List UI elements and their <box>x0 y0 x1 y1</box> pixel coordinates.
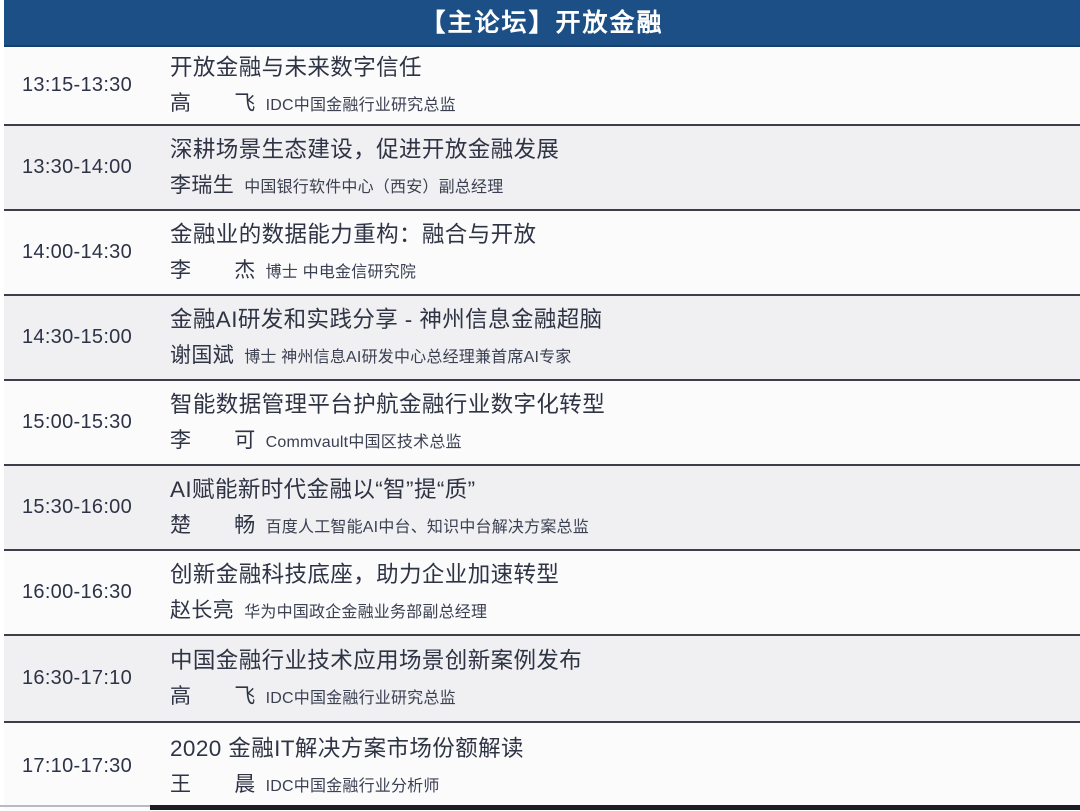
session-time: 13:30-14:00 <box>4 126 150 209</box>
speaker-name: 高 飞 <box>170 87 256 117</box>
session-speaker-line: 高 飞 IDC中国金融行业研究总监 <box>170 680 1066 710</box>
table-row: 16:30-17:10 中国金融行业技术应用场景创新案例发布 高 飞 IDC中国… <box>4 636 1080 723</box>
session-topic: 开放金融与未来数字信任 <box>170 54 1066 83</box>
session-time: 14:00-14:30 <box>4 211 150 294</box>
session-info: 创新金融科技底座，助力企业加速转型 赵长亮 华为中国政企金融业务部副总经理 <box>150 551 1080 634</box>
session-speaker-line: 赵长亮 华为中国政企金融业务部副总经理 <box>170 594 1066 624</box>
speaker-name: 王 晨 <box>170 768 256 798</box>
agenda-table: 13:15-13:30 开放金融与未来数字信任 高 飞 IDC中国金融行业研究总… <box>4 47 1080 810</box>
session-time: 14:30-15:00 <box>4 296 150 379</box>
session-time: 16:30-17:10 <box>4 636 150 721</box>
session-topic: 中国金融行业技术应用场景创新案例发布 <box>170 647 1066 676</box>
bottom-divider-right <box>150 805 1080 811</box>
session-time: 17:10-17:30 <box>4 723 150 810</box>
session-speaker-line: 高 飞 IDC中国金融行业研究总监 <box>170 87 1066 117</box>
speaker-name: 楚 畅 <box>170 509 256 539</box>
session-topic: 金融AI研发和实践分享 - 神州信息金融超脑 <box>170 306 1066 335</box>
table-row: 13:15-13:30 开放金融与未来数字信任 高 飞 IDC中国金融行业研究总… <box>4 47 1080 126</box>
forum-header-banner: 【主论坛】开放金融 <box>4 0 1080 47</box>
session-topic: 深耕场景生态建设，促进开放金融发展 <box>170 136 1066 165</box>
session-topic: 金融业的数据能力重构：融合与开放 <box>170 221 1066 250</box>
speaker-name: 李 杰 <box>170 254 256 284</box>
session-time: 15:30-16:00 <box>4 466 150 549</box>
session-speaker-line: 李 杰 博士 中电金信研究院 <box>170 254 1066 284</box>
speaker-name: 高 飞 <box>170 680 256 710</box>
table-row: 14:30-15:00 金融AI研发和实践分享 - 神州信息金融超脑 谢国斌 博… <box>4 296 1080 381</box>
session-speaker-line: 李瑞生 中国银行软件中心（西安）副总经理 <box>170 169 1066 199</box>
page-title: 【主论坛】开放金融 <box>420 11 663 36</box>
speaker-name: 李瑞生 <box>170 169 234 199</box>
table-row: 15:00-15:30 智能数据管理平台护航金融行业数字化转型 李 可 Comm… <box>4 381 1080 466</box>
speaker-title: 中国银行软件中心（西安）副总经理 <box>244 173 503 197</box>
speaker-name: 谢国斌 <box>170 339 234 369</box>
session-info: 2020 金融IT解决方案市场份额解读 王 晨 IDC中国金融行业分析师 <box>150 723 1080 810</box>
session-time: 13:15-13:30 <box>4 47 150 124</box>
session-speaker-line: 李 可 Commvault中国区技术总监 <box>170 424 1066 454</box>
session-info: 深耕场景生态建设，促进开放金融发展 李瑞生 中国银行软件中心（西安）副总经理 <box>150 126 1080 209</box>
session-time: 15:00-15:30 <box>4 381 150 464</box>
session-info: 金融业的数据能力重构：融合与开放 李 杰 博士 中电金信研究院 <box>150 211 1080 294</box>
session-time: 16:00-16:30 <box>4 551 150 634</box>
table-row: 14:00-14:30 金融业的数据能力重构：融合与开放 李 杰 博士 中电金信… <box>4 211 1080 296</box>
speaker-title: IDC中国金融行业分析师 <box>266 772 440 796</box>
speaker-title: 博士 中电金信研究院 <box>266 258 416 282</box>
speaker-title: 百度人工智能AI中台、知识中台解决方案总监 <box>266 513 589 537</box>
speaker-title: IDC中国金融行业研究总监 <box>266 684 456 708</box>
speaker-title: 博士 神州信息AI研发中心总经理兼首席AI专家 <box>244 343 571 367</box>
session-info: 中国金融行业技术应用场景创新案例发布 高 飞 IDC中国金融行业研究总监 <box>150 636 1080 721</box>
session-topic: AI赋能新时代金融以“智”提“质” <box>170 476 1066 505</box>
bottom-divider-left <box>0 805 150 811</box>
bottom-divider <box>0 805 1080 811</box>
session-topic: 2020 金融IT解决方案市场份额解读 <box>170 735 1066 764</box>
session-speaker-line: 谢国斌 博士 神州信息AI研发中心总经理兼首席AI专家 <box>170 339 1066 369</box>
table-row: 13:30-14:00 深耕场景生态建设，促进开放金融发展 李瑞生 中国银行软件… <box>4 126 1080 211</box>
session-speaker-line: 王 晨 IDC中国金融行业分析师 <box>170 768 1066 798</box>
agenda-poster: 【主论坛】开放金融 13:15-13:30 开放金融与未来数字信任 高 飞 ID… <box>0 0 1080 811</box>
table-row: 17:10-17:30 2020 金融IT解决方案市场份额解读 王 晨 IDC中… <box>4 723 1080 810</box>
session-topic: 创新金融科技底座，助力企业加速转型 <box>170 561 1066 590</box>
speaker-title: Commvault中国区技术总监 <box>266 428 462 452</box>
session-speaker-line: 楚 畅 百度人工智能AI中台、知识中台解决方案总监 <box>170 509 1066 539</box>
speaker-name: 李 可 <box>170 424 256 454</box>
speaker-title: IDC中国金融行业研究总监 <box>266 91 456 115</box>
speaker-title: 华为中国政企金融业务部副总经理 <box>244 598 487 622</box>
session-info: AI赋能新时代金融以“智”提“质” 楚 畅 百度人工智能AI中台、知识中台解决方… <box>150 466 1080 549</box>
session-info: 开放金融与未来数字信任 高 飞 IDC中国金融行业研究总监 <box>150 47 1080 124</box>
table-row: 16:00-16:30 创新金融科技底座，助力企业加速转型 赵长亮 华为中国政企… <box>4 551 1080 636</box>
session-topic: 智能数据管理平台护航金融行业数字化转型 <box>170 391 1066 420</box>
speaker-name: 赵长亮 <box>170 594 234 624</box>
table-row: 15:30-16:00 AI赋能新时代金融以“智”提“质” 楚 畅 百度人工智能… <box>4 466 1080 551</box>
session-info: 金融AI研发和实践分享 - 神州信息金融超脑 谢国斌 博士 神州信息AI研发中心… <box>150 296 1080 379</box>
session-info: 智能数据管理平台护航金融行业数字化转型 李 可 Commvault中国区技术总监 <box>150 381 1080 464</box>
